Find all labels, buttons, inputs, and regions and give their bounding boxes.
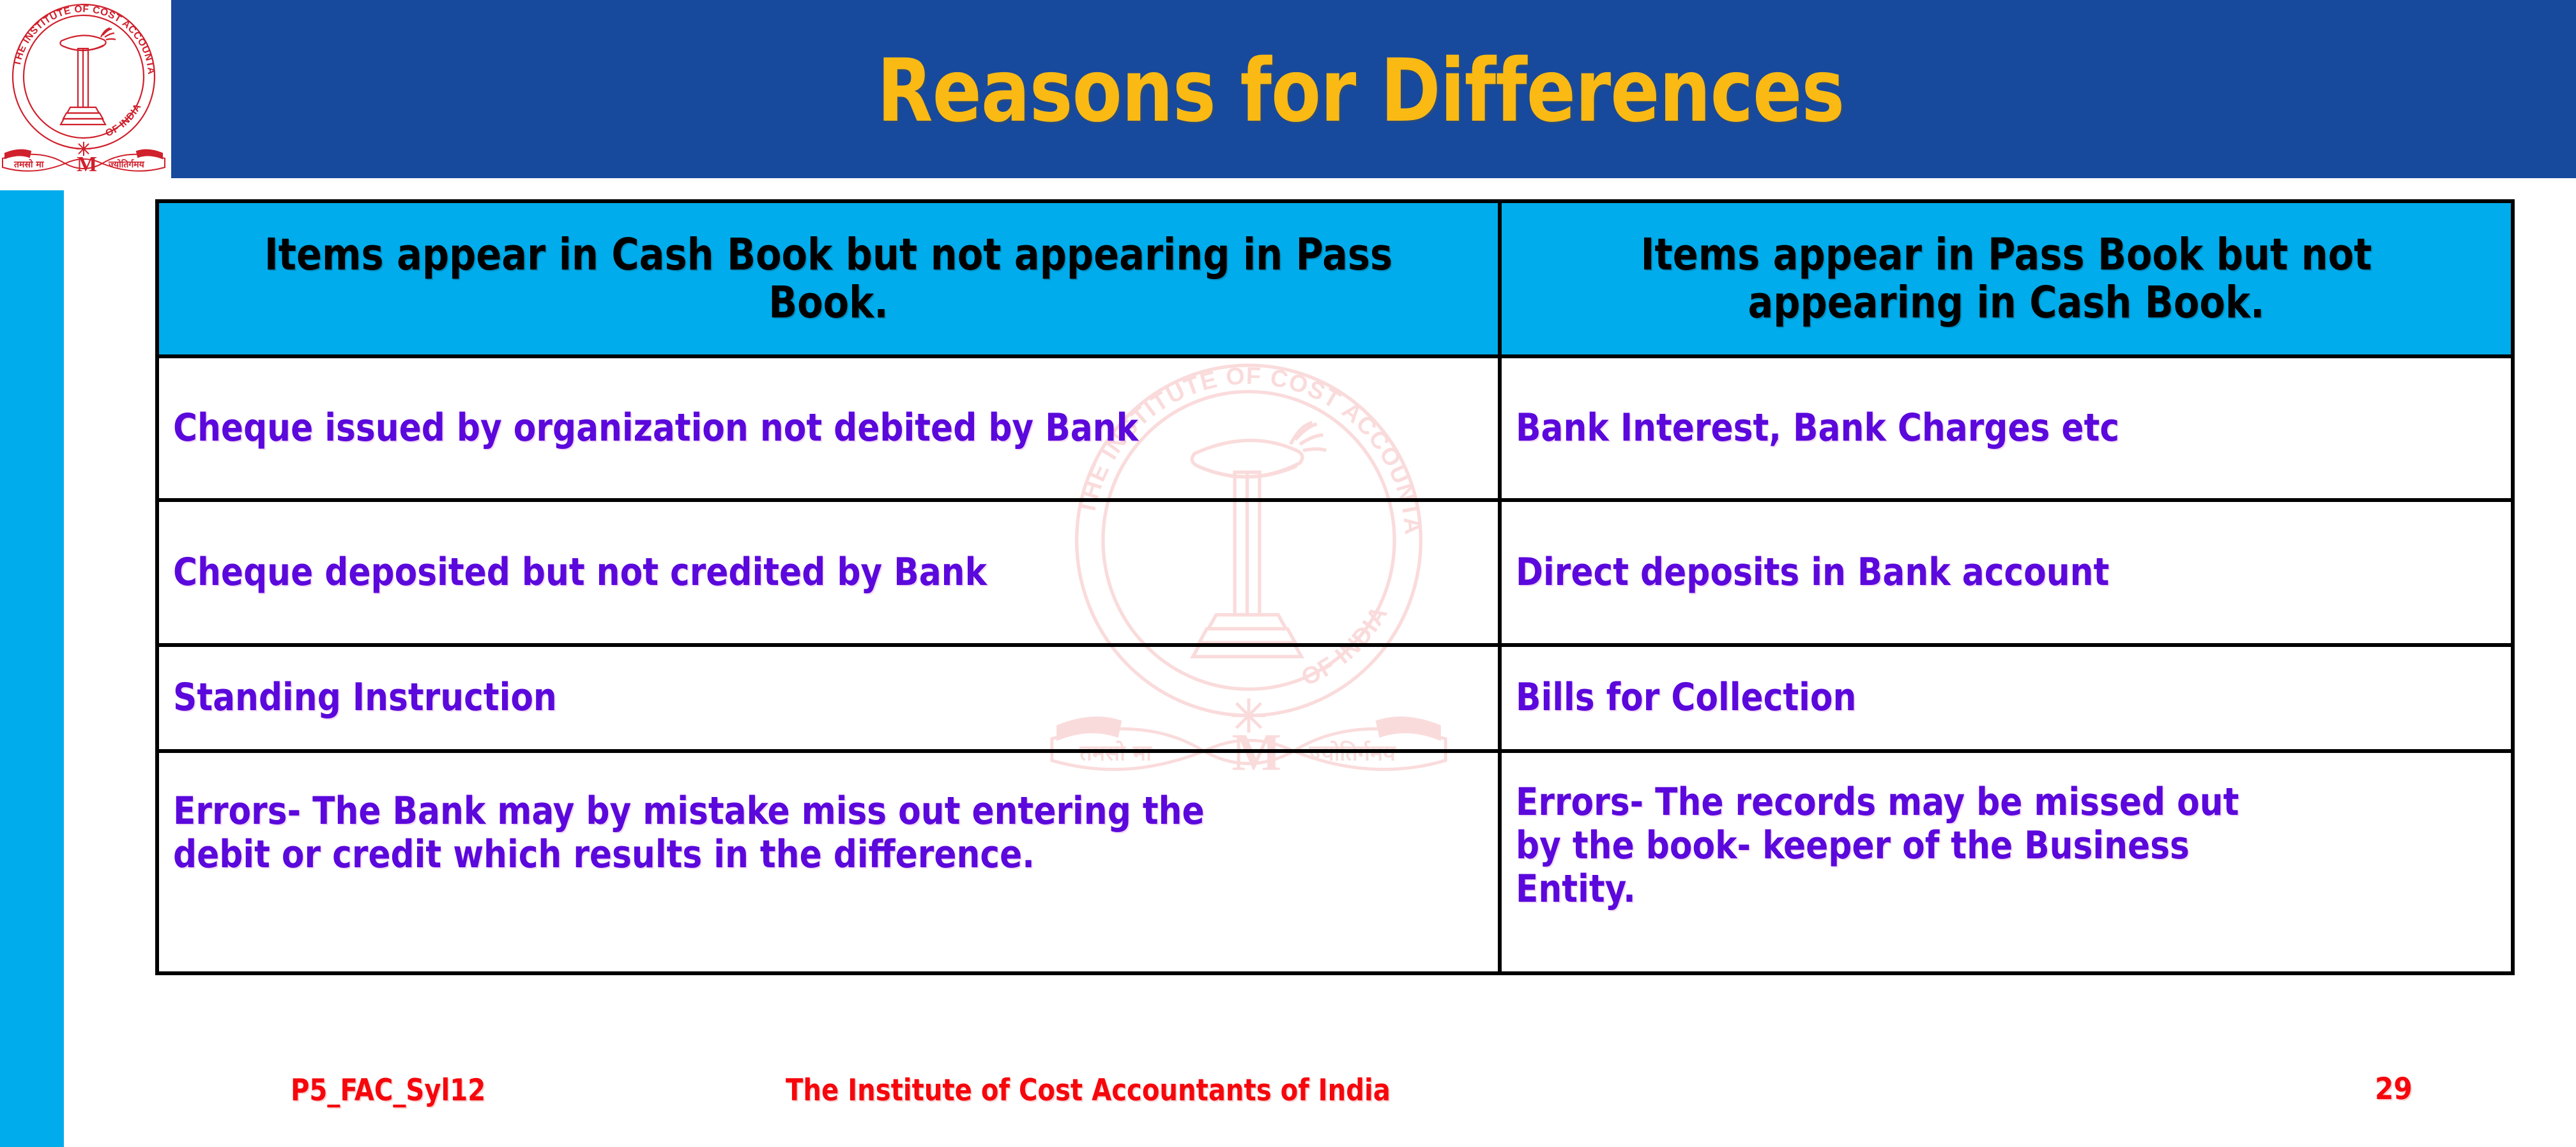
cell-label: Bills for Collection bbox=[1516, 676, 2455, 719]
cell-label: Bank Interest, Bank Charges etc bbox=[1516, 407, 2455, 450]
footer-paper-code: P5_FAC_Syl12 bbox=[291, 1073, 485, 1108]
cell-label: Cheque deposited but not credited by Ban… bbox=[173, 551, 1429, 594]
title-band: Reasons for Differences bbox=[171, 0, 2576, 178]
comparison-table: Items appear in Cash Book but not appear… bbox=[155, 199, 2515, 975]
svg-text:ज्योतिर्गमय: ज्योतिर्गमय bbox=[108, 159, 145, 170]
cell-label: Standing Instruction bbox=[173, 676, 1429, 719]
table-cell-left: Errors- The Bank may by mistake miss out… bbox=[157, 751, 1500, 973]
slide-footer: P5_FAC_Syl12 The Institute of Cost Accou… bbox=[0, 1060, 2576, 1130]
column-header-label: Items appear in Cash Book but not appear… bbox=[213, 231, 1444, 326]
cell-label: Errors- The Bank may by mistake miss out… bbox=[173, 790, 1429, 877]
institute-logo: THE INSTITUTE OF COST ACCOUNTANTS OF IND… bbox=[0, 0, 167, 174]
cell-label: Errors- The records may be missed out by… bbox=[1516, 781, 2455, 911]
svg-text:M: M bbox=[77, 153, 97, 174]
table-cell-left: Cheque deposited but not credited by Ban… bbox=[157, 500, 1500, 645]
table-cell-right: Bills for Collection bbox=[1500, 645, 2513, 751]
cell-label: Direct deposits in Bank account bbox=[1516, 551, 2455, 594]
table-row: Errors- The Bank may by mistake miss out… bbox=[157, 751, 2513, 973]
table-cell-right: Bank Interest, Bank Charges etc bbox=[1500, 356, 2513, 500]
column-header-pass-book: Items appear in Pass Book but not appear… bbox=[1500, 201, 2513, 356]
table-row: Cheque issued by organization not debite… bbox=[157, 356, 2513, 500]
table-row: Standing Instruction Bills for Collectio… bbox=[157, 645, 2513, 751]
svg-text:OF INDIA: OF INDIA bbox=[104, 102, 144, 139]
left-accent-strip bbox=[0, 190, 64, 1147]
svg-text:तमसो मा: तमसो मा bbox=[13, 159, 45, 170]
table-cell-right: Errors- The records may be missed out by… bbox=[1500, 751, 2513, 973]
footer-page-number: 29 bbox=[2375, 1072, 2412, 1107]
table-cell-right: Direct deposits in Bank account bbox=[1500, 500, 2513, 645]
cell-label: Cheque issued by organization not debite… bbox=[173, 407, 1429, 450]
footer-institute-name: The Institute of Cost Accountants of Ind… bbox=[786, 1073, 1391, 1108]
page-title: Reasons for Differences bbox=[877, 48, 1844, 135]
column-header-label: Items appear in Pass Book but not appear… bbox=[1548, 231, 2465, 326]
table-row: Cheque deposited but not credited by Ban… bbox=[157, 500, 2513, 645]
table-cell-left: Cheque issued by organization not debite… bbox=[157, 356, 1500, 500]
table-header-row: Items appear in Cash Book but not appear… bbox=[157, 201, 2513, 356]
column-header-cash-book: Items appear in Cash Book but not appear… bbox=[157, 201, 1500, 356]
table-cell-left: Standing Instruction bbox=[157, 645, 1500, 751]
slide-canvas: THE INSTITUTE OF COST ACCOUNTANTS OF IND… bbox=[0, 0, 2576, 1147]
